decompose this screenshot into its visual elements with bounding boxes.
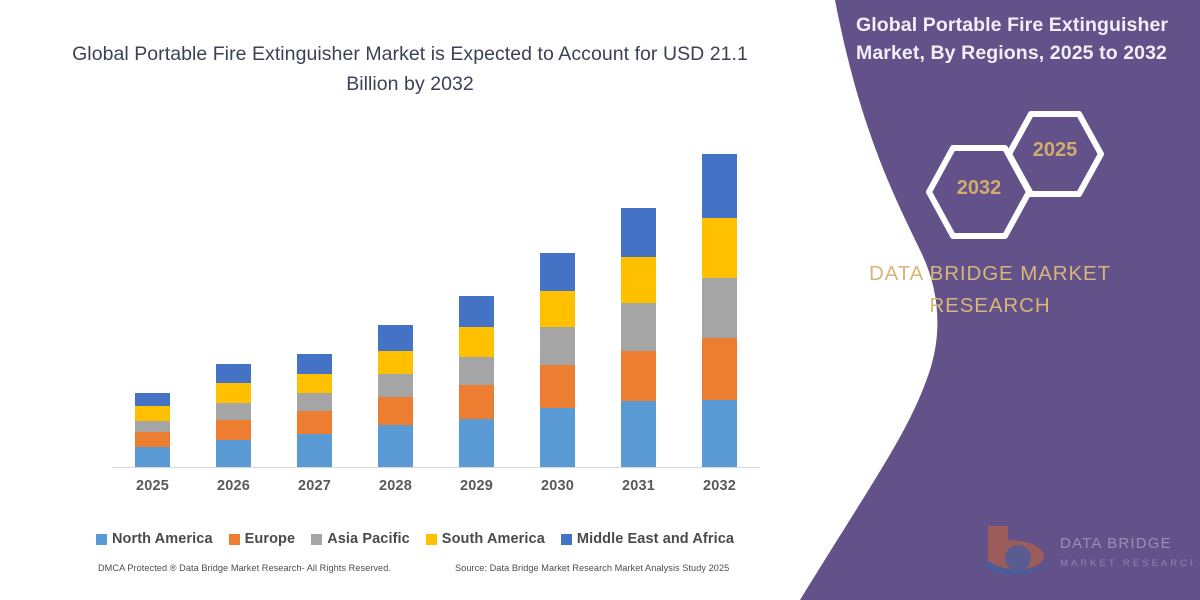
chart-legend: North AmericaEuropeAsia PacificSouth Ame… [70, 531, 760, 547]
x-axis-label-2026: 2026 [193, 478, 274, 494]
bar-segment [540, 327, 575, 366]
legend-swatch-icon [311, 534, 322, 545]
bar-segment [216, 440, 251, 467]
bar-segment [378, 325, 413, 351]
bar-segment [135, 447, 170, 467]
stacked-bar [378, 325, 413, 467]
bar-segment [135, 432, 170, 447]
bar-segment [216, 383, 251, 402]
x-axis-label-2027: 2027 [274, 478, 355, 494]
bar-segment [540, 365, 575, 408]
bar-segment [135, 421, 170, 432]
stacked-bar [216, 364, 251, 467]
bar-segment [135, 406, 170, 421]
x-axis-label-2025: 2025 [112, 478, 193, 494]
bar-segment [621, 208, 656, 257]
bar-segment [621, 257, 656, 303]
bar-segment [459, 419, 494, 467]
legend-swatch-icon [96, 534, 107, 545]
stacked-bar [297, 354, 332, 467]
stacked-bar [540, 253, 575, 467]
bar-column-2029 [436, 140, 517, 467]
bar-segment [459, 385, 494, 418]
bar-column-2027 [274, 140, 355, 467]
bar-column-2026 [193, 140, 274, 467]
legend-label: South America [442, 531, 545, 547]
bar-segment [459, 327, 494, 357]
plot-area [112, 140, 760, 468]
legend-item[interactable]: Middle East and Africa [561, 531, 734, 547]
stacked-bar [621, 208, 656, 467]
x-axis-label-2028: 2028 [355, 478, 436, 494]
legend-label: Middle East and Africa [577, 531, 734, 547]
chart-title: Global Portable Fire Extinguisher Market… [70, 40, 750, 99]
legend-swatch-icon [426, 534, 437, 545]
bar-segment [540, 408, 575, 467]
stacked-bar [459, 296, 494, 467]
legend-label: Europe [245, 531, 296, 547]
brand-panel-background [760, 0, 1200, 600]
bar-segment [297, 434, 332, 467]
bar-column-2025 [112, 140, 193, 467]
bar-segment [702, 278, 737, 338]
bar-segment [297, 393, 332, 412]
stacked-bar [702, 154, 737, 467]
bar-column-2028 [355, 140, 436, 467]
infographic-canvas: Global Portable Fire Extinguisher Market… [0, 0, 1200, 600]
legend-item[interactable]: North America [96, 531, 213, 547]
bar-segment [378, 374, 413, 397]
stacked-bar [135, 393, 170, 467]
bar-segment [702, 154, 737, 218]
x-axis-label-2032: 2032 [679, 478, 760, 494]
legend-label: North America [112, 531, 213, 547]
legend-item[interactable]: Europe [229, 531, 296, 547]
bar-segment [702, 338, 737, 400]
bar-segment [135, 393, 170, 406]
legend-swatch-icon [561, 534, 572, 545]
bar-segment [540, 291, 575, 327]
bar-column-2031 [598, 140, 679, 467]
bar-segment [702, 218, 737, 278]
bar-segment [459, 296, 494, 326]
bar-segment [378, 397, 413, 425]
axis-baseline [112, 467, 760, 468]
x-axis-labels: 20252026202720282029203020312032 [112, 478, 760, 494]
bar-segment [216, 403, 251, 420]
legend-item[interactable]: South America [426, 531, 545, 547]
x-axis-label-2029: 2029 [436, 478, 517, 494]
legend-swatch-icon [229, 534, 240, 545]
bar-segment [621, 303, 656, 350]
bar-segment [702, 400, 737, 467]
bar-segment [621, 401, 656, 467]
stacked-bar-group [112, 140, 760, 467]
x-axis-label-2030: 2030 [517, 478, 598, 494]
footer-source: Source: Data Bridge Market Research Mark… [455, 563, 729, 573]
bar-segment [297, 354, 332, 374]
chart-panel: Global Portable Fire Extinguisher Market… [0, 0, 800, 600]
bar-segment [216, 420, 251, 440]
bar-segment [297, 374, 332, 393]
bar-segment [621, 351, 656, 401]
bar-segment [459, 357, 494, 386]
bar-column-2030 [517, 140, 598, 467]
bar-segment [378, 351, 413, 375]
bar-segment [540, 253, 575, 291]
bar-segment [297, 411, 332, 433]
bar-segment [378, 425, 413, 467]
x-axis-label-2031: 2031 [598, 478, 679, 494]
bar-column-2032 [679, 140, 760, 467]
footer-copyright: DMCA Protected ® Data Bridge Market Rese… [98, 563, 391, 573]
legend-label: Asia Pacific [327, 531, 410, 547]
bar-segment [216, 364, 251, 383]
legend-item[interactable]: Asia Pacific [311, 531, 410, 547]
